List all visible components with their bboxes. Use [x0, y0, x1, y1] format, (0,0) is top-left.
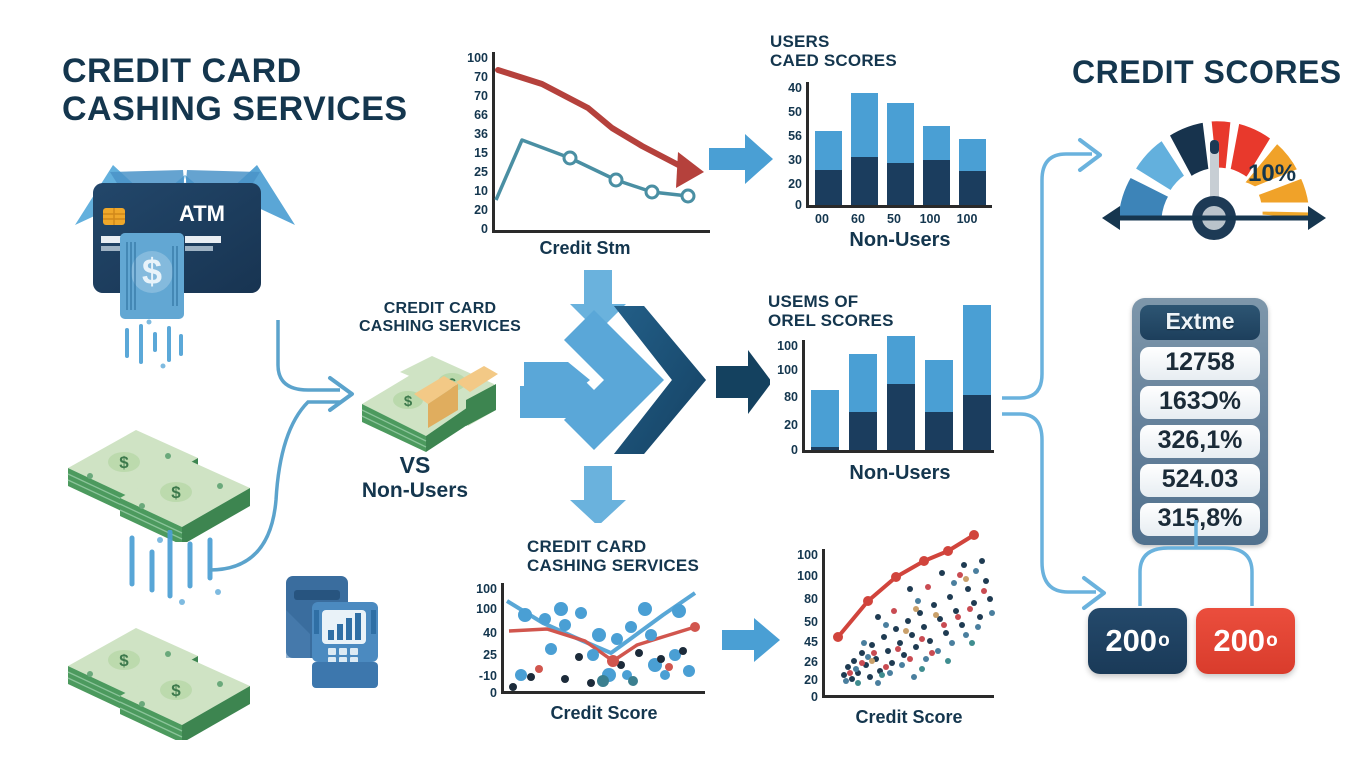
line-plot-area	[492, 48, 717, 232]
svg-text:$: $	[142, 251, 162, 292]
chart-scatter-cloud: 100 100 80 50 45 26 20 0	[778, 525, 1028, 740]
y-tick: 15	[446, 147, 488, 160]
bar-column	[887, 336, 915, 450]
x-axis	[806, 205, 992, 208]
cash-caption: CREDIT CARD CASHING SERVICES	[340, 300, 540, 336]
chart-title-line2: CAED SCORES	[770, 51, 1000, 70]
chart-scatter-ushape: CREDIT CARD CASHING SERVICES 100 100 40 …	[455, 535, 730, 740]
y-tick: 25	[457, 649, 497, 662]
y-tick: 100	[457, 603, 497, 616]
badge-navy-value: 200	[1105, 623, 1157, 659]
bar-column	[887, 103, 914, 205]
bar-column	[851, 93, 878, 205]
y-tick: 0	[778, 691, 818, 704]
svg-text:$: $	[404, 393, 413, 410]
bar-column	[959, 139, 986, 205]
y-tick: 20	[778, 674, 818, 687]
page-title-left: CREDIT CARD CASHING SERVICES	[62, 52, 408, 128]
x-axis-label: Credit Score	[816, 707, 1002, 728]
svg-text:$: $	[119, 651, 129, 670]
chart-title: CREDIT CARD CASHING SERVICES	[527, 537, 747, 576]
connector-left-merge	[180, 320, 360, 580]
chart-bars-usems-orel: USEMS OF OREL SCORES 100 100 80 20 0 Non…	[760, 292, 1010, 502]
arrow-right-bottom	[720, 614, 782, 666]
bars-plot-area	[805, 300, 993, 450]
y-tick: 100	[778, 549, 818, 562]
y-tick: 25	[446, 166, 488, 179]
vs-caption: VS Non-Users	[330, 452, 500, 503]
cash-stack-lower: $ $	[58, 610, 258, 740]
chart-title-line2: CASHING SERVICES	[527, 556, 747, 575]
values-panel-row[interactable]: 524.03	[1140, 464, 1260, 497]
chart-line-decline: 100 70 70 66 36 15 25 10 20 0 Credit Stm	[440, 48, 720, 263]
y-tick: -10	[457, 670, 497, 683]
y-tick: 20	[760, 419, 798, 432]
infographic-canvas: CREDIT CARD CASHING SERVICES CREDIT SCOR…	[0, 0, 1365, 768]
bar-column	[815, 131, 842, 205]
y-tick: 40	[457, 627, 497, 640]
badge-red[interactable]: 200o	[1196, 608, 1295, 674]
badge-red-value: 200	[1213, 623, 1265, 659]
vs-sub-label: Non-Users	[330, 479, 500, 503]
y-tick: 100	[778, 570, 818, 583]
badge-navy[interactable]: 200o	[1088, 608, 1187, 674]
page-title-left-line1: CREDIT CARD	[62, 52, 408, 90]
values-panel-row[interactable]: 12758	[1140, 347, 1260, 380]
badge-red-suffix: o	[1266, 630, 1278, 652]
chart-title-line1: USERS	[770, 32, 1000, 51]
connector-panel-to-badges	[1090, 520, 1310, 615]
y-tick: 70	[446, 90, 488, 103]
y-tick: 50	[764, 106, 802, 119]
y-tick: 0	[457, 687, 497, 700]
cash-caption-line2: CASHING SERVICES	[340, 318, 540, 336]
atm-kiosk-illustration	[280, 570, 385, 695]
x-axis-label: Credit Stm	[470, 238, 700, 259]
y-tick: 40	[764, 82, 802, 95]
x-tick: 100	[947, 212, 987, 226]
values-panel-header: Extme	[1140, 305, 1260, 340]
y-tick: 80	[778, 593, 818, 606]
y-tick: 26	[778, 656, 818, 669]
y-tick: 100	[457, 583, 497, 596]
chart-title-line1: CREDIT CARD	[527, 537, 747, 556]
badge-navy-suffix: o	[1158, 630, 1170, 652]
values-panel-row[interactable]: 326,1%	[1140, 425, 1260, 458]
y-tick: 0	[446, 223, 488, 236]
y-tick: 0	[760, 444, 798, 457]
y-tick: 45	[778, 636, 818, 649]
values-panel-row[interactable]: 163Ɔ%	[1140, 386, 1260, 419]
y-tick: 0	[764, 199, 802, 212]
y-tick: 100	[446, 52, 488, 65]
y-tick: 80	[760, 391, 798, 404]
y-tick: 56	[764, 130, 802, 143]
x-tick: 50	[875, 212, 913, 226]
y-tick: 36	[446, 128, 488, 141]
y-tick: 20	[764, 178, 802, 191]
y-tick: 10	[446, 185, 488, 198]
scatter-cloud-plot-area	[824, 525, 999, 697]
bars-plot-area	[809, 78, 991, 205]
x-axis-label: Credit Score	[499, 703, 709, 724]
chevron-hub	[520, 268, 770, 523]
values-panel: Extme 12758 163Ɔ% 326,1% 524.03 315,8%	[1132, 298, 1268, 545]
y-tick: 100	[760, 364, 798, 377]
y-tick: 100	[760, 340, 798, 353]
cash-bundle-illustration: $ $	[348, 348, 528, 458]
bar-column	[963, 305, 991, 451]
y-tick: 20	[446, 204, 488, 217]
cash-caption-line1: CREDIT CARD	[340, 300, 540, 318]
bar-column	[923, 126, 950, 205]
x-tick: 100	[911, 212, 949, 226]
chart-title: USERS CAED SCORES	[770, 32, 1000, 71]
bar-column	[849, 354, 877, 450]
page-title-right: CREDIT SCORES	[1072, 55, 1342, 91]
y-tick: 30	[764, 154, 802, 167]
scatter-plot-area	[503, 579, 703, 693]
chart-bars-users-cred: USERS CAED SCORES 40 50 56 30 20 0 00 60…	[762, 32, 1012, 262]
x-axis	[802, 450, 994, 453]
page-title-left-line2: CASHING SERVICES	[62, 90, 408, 128]
gauge-value-label: 10%	[1248, 160, 1296, 188]
x-tick: 00	[803, 212, 841, 226]
y-tick: 70	[446, 71, 488, 84]
svg-text:$: $	[119, 453, 129, 472]
x-axis-label: Non-Users	[802, 229, 998, 252]
svg-text:$: $	[171, 681, 181, 700]
vs-label: VS	[330, 452, 500, 479]
x-axis-label: Non-Users	[800, 462, 1000, 485]
bar-column	[925, 360, 953, 450]
svg-text:ATM: ATM	[179, 201, 225, 226]
y-tick: 66	[446, 109, 488, 122]
bar-column	[811, 390, 839, 450]
y-tick: 50	[778, 616, 818, 629]
x-tick: 60	[839, 212, 877, 226]
